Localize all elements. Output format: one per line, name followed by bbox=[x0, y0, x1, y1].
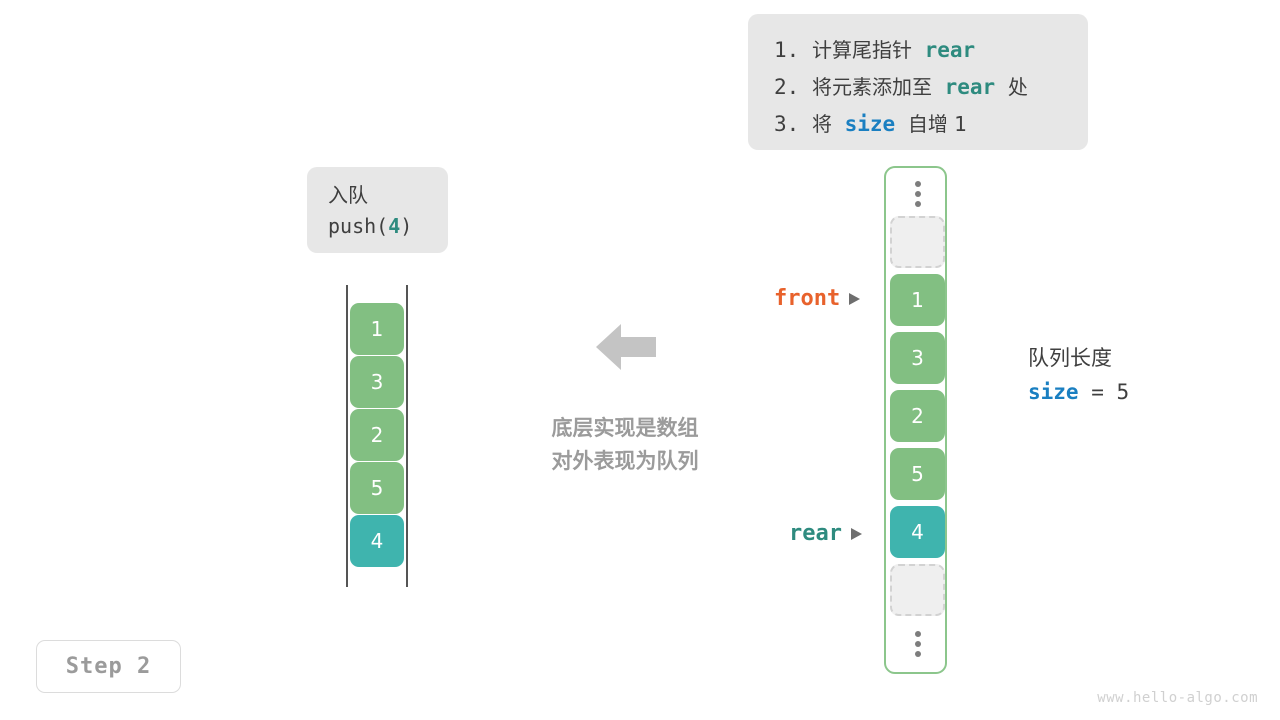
step-line-2-number: 2. bbox=[774, 75, 799, 99]
step-line-1: 1. 计算尾指针 rear bbox=[774, 32, 1062, 69]
array-cell: 2 bbox=[890, 390, 945, 442]
array-cell-rear: 4 bbox=[890, 506, 945, 558]
queue-cell: 1 bbox=[350, 303, 404, 355]
size-note-value: 5 bbox=[1117, 380, 1130, 404]
vertical-ellipsis-icon-top bbox=[890, 172, 945, 216]
watermark: www.hello-algo.com bbox=[1097, 690, 1258, 706]
middle-caption-line-1: 底层实现是数组 bbox=[510, 412, 740, 445]
step-line-2-text: 将元素添加至 bbox=[812, 75, 932, 99]
size-note-expression: size = 5 bbox=[1028, 375, 1129, 409]
arrow-right-icon bbox=[851, 528, 862, 540]
array-visual: 1 3 2 5 4 bbox=[884, 166, 947, 674]
array-cell: 3 bbox=[890, 332, 945, 384]
array-cell-empty bbox=[890, 564, 945, 616]
operation-call-prefix: push( bbox=[328, 214, 388, 238]
operation-title: 入队 bbox=[328, 180, 448, 211]
step-line-1-text: 计算尾指针 bbox=[812, 38, 912, 62]
queue-cell-list: 1 3 2 5 4 bbox=[350, 303, 404, 568]
arrow-right-icon bbox=[849, 293, 860, 305]
front-pointer-text: front bbox=[774, 286, 840, 311]
queue-cell: 5 bbox=[350, 462, 404, 514]
rear-pointer-label: rear bbox=[789, 521, 862, 546]
middle-caption-line-2: 对外表现为队列 bbox=[510, 445, 740, 478]
vertical-ellipsis-icon-bottom bbox=[890, 622, 945, 666]
array-cell: 5 bbox=[890, 448, 945, 500]
step-line-3-text-after: 自增 1 bbox=[908, 112, 967, 136]
queue-cell: 3 bbox=[350, 356, 404, 408]
size-note-title: 队列长度 bbox=[1028, 341, 1129, 375]
step-line-1-number: 1. bbox=[774, 38, 799, 62]
rear-pointer-text: rear bbox=[789, 521, 842, 546]
array-cell: 1 bbox=[890, 274, 945, 326]
operation-call-arg: 4 bbox=[388, 214, 400, 238]
operation-call-suffix: ) bbox=[400, 214, 412, 238]
size-note-equals: = bbox=[1091, 380, 1104, 404]
queue-visual: 1 3 2 5 4 bbox=[345, 285, 411, 587]
queue-rail-left bbox=[346, 285, 348, 587]
array-cell-list: 1 3 2 5 4 bbox=[890, 172, 945, 666]
steps-instruction-box: 1. 计算尾指针 rear 2. 将元素添加至 rear 处 3. 将 size… bbox=[748, 14, 1088, 150]
operation-box: 入队 push(4) bbox=[307, 167, 448, 253]
step-badge: Step 2 bbox=[36, 640, 181, 693]
queue-rail-right bbox=[406, 285, 408, 587]
step-line-2: 2. 将元素添加至 rear 处 bbox=[774, 69, 1062, 106]
size-note: 队列长度 size = 5 bbox=[1028, 341, 1129, 409]
middle-caption: 底层实现是数组 对外表现为队列 bbox=[510, 412, 740, 478]
step-line-2-text-after: 处 bbox=[1008, 75, 1028, 99]
step-line-3-keyword: size bbox=[845, 112, 896, 136]
queue-cell: 4 bbox=[350, 515, 404, 567]
front-pointer-label: front bbox=[774, 286, 860, 311]
size-note-var: size bbox=[1028, 380, 1079, 404]
step-line-3-text: 将 bbox=[812, 112, 832, 136]
operation-call: push(4) bbox=[328, 211, 448, 242]
step-line-1-keyword: rear bbox=[925, 38, 976, 62]
step-line-2-keyword: rear bbox=[945, 75, 996, 99]
step-line-3-number: 3. bbox=[774, 112, 799, 136]
queue-cell: 2 bbox=[350, 409, 404, 461]
step-line-3: 3. 将 size 自增 1 bbox=[774, 106, 1062, 143]
arrow-left-icon bbox=[595, 322, 657, 372]
array-cell-empty bbox=[890, 216, 945, 268]
